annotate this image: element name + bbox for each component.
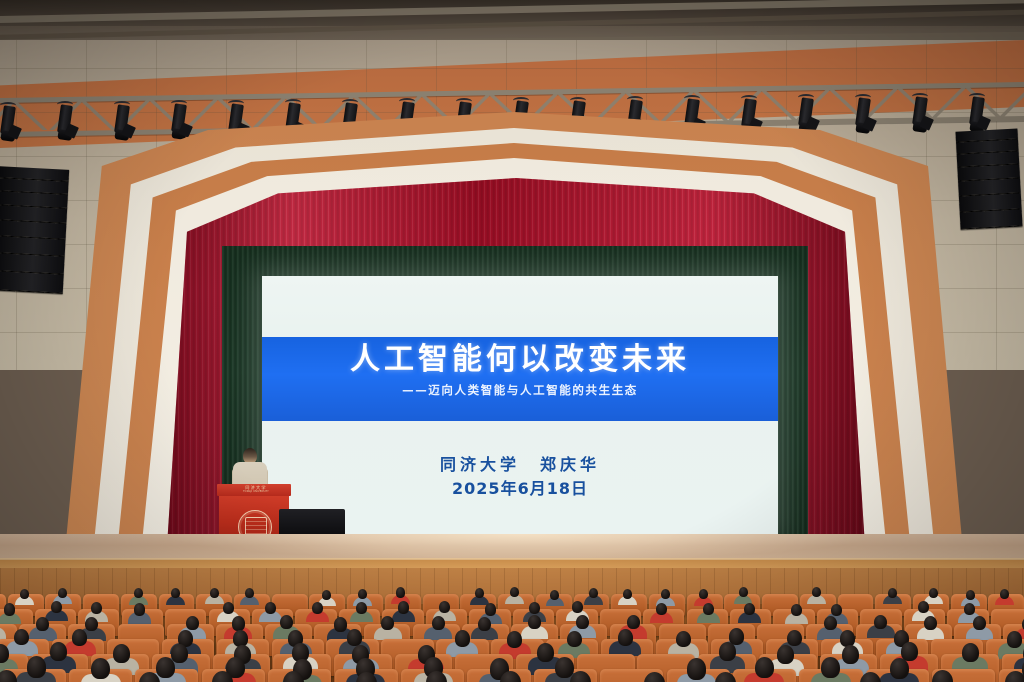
stage-light [171, 100, 187, 144]
audience-head [171, 644, 188, 663]
audience-seating [0, 568, 1024, 682]
audience-head [186, 616, 199, 631]
audience-head [589, 588, 598, 598]
audience-head [567, 631, 582, 648]
audience-head [572, 601, 583, 613]
audience-head [618, 629, 633, 646]
audience-head [58, 588, 67, 598]
audience-head [623, 589, 632, 599]
audience-head [842, 645, 859, 664]
audience-head [966, 590, 975, 600]
auditorium-photo: 人工智能何以改变未来 ——迈向人类智能与人工智能的共生生态 同济大学 郑庆华 2… [0, 0, 1024, 682]
slide-subtitle: ——迈向人类智能与人工智能的共生生态 [262, 382, 778, 398]
audience-head [703, 603, 714, 615]
audience-head [874, 615, 887, 630]
line-array-speaker-left [0, 166, 69, 293]
audience-head [661, 589, 670, 599]
audience-head [787, 630, 802, 647]
audience-head [964, 603, 975, 615]
audience-head [755, 657, 774, 678]
audience-head [812, 587, 821, 597]
audience-head [791, 604, 802, 616]
audience-head [36, 617, 49, 632]
audience-head [699, 589, 708, 599]
audience-head [507, 631, 522, 648]
audience-head [687, 658, 706, 679]
audience-head [232, 616, 245, 631]
audience-head [280, 615, 293, 630]
slide-affiliation: 同济大学 郑庆华 [262, 454, 778, 476]
audience-head [113, 644, 130, 663]
audience-head [1007, 631, 1022, 648]
audience-head [14, 629, 29, 646]
audience-head [4, 603, 15, 615]
audience-head [676, 631, 691, 648]
audience-head [171, 588, 180, 598]
audience-head [777, 645, 794, 664]
stage-light [912, 93, 928, 137]
audience-head [356, 602, 367, 614]
audience-head [455, 630, 470, 647]
audience-head [322, 590, 331, 600]
audience-head [739, 587, 748, 597]
audience-head [334, 617, 347, 632]
audience-head [1000, 589, 1009, 599]
audience-head [396, 587, 405, 597]
audience-head [27, 656, 46, 677]
slide-title: 人工智能何以改变未来 [262, 342, 778, 378]
speaker-cabinet [960, 209, 1023, 229]
projection-screen: 人工智能何以改变未来 ——迈向人类智能与人工智能的共生生态 同济大学 郑庆华 2… [262, 276, 778, 534]
audience-head [831, 604, 842, 616]
stage-light [114, 101, 130, 145]
slide-date: 2025年6月18日 [262, 478, 778, 500]
stage-floor-light [170, 534, 870, 560]
audience-head [485, 603, 496, 615]
audience-head [888, 588, 897, 598]
audience-head [824, 616, 837, 631]
audience-head [72, 629, 87, 646]
audience-head [719, 642, 736, 661]
audience-head [1005, 671, 1024, 682]
audience-head [134, 603, 145, 615]
audience-head [821, 657, 840, 678]
audience-head [91, 658, 110, 679]
audience-head [398, 601, 409, 613]
audience-head [627, 615, 640, 630]
line-array-speaker-right [955, 128, 1022, 229]
audience-head [223, 602, 234, 614]
audience-head [91, 602, 102, 614]
audience-head [265, 602, 276, 614]
speaker-cabinet [0, 271, 64, 294]
audience-head [312, 602, 323, 614]
audience-head [840, 630, 855, 647]
stage-light [0, 102, 16, 146]
audience-head [210, 588, 219, 598]
podium-org-name-en: TONGJI UNIVERSITY [219, 490, 293, 493]
stage-light [855, 94, 871, 138]
audience-head [962, 643, 979, 662]
audience-head [537, 643, 554, 662]
audience-head [478, 617, 491, 632]
audience-head [156, 657, 175, 678]
audience-head [656, 603, 667, 615]
wall-tile-line [0, 68, 1024, 69]
audience-head [890, 658, 909, 679]
audience-head [20, 589, 29, 599]
audience-head [347, 629, 362, 646]
audience-head [358, 589, 367, 599]
audience-head [51, 601, 62, 613]
audience-head [973, 616, 986, 631]
audience-head [528, 615, 541, 630]
audience-head [576, 615, 589, 630]
audience-head [529, 602, 540, 614]
audience-head [432, 616, 445, 631]
stage-light [57, 101, 73, 145]
podium-org-name: 同济大学TONGJI UNIVERSITY [219, 485, 293, 493]
audience-head [929, 588, 938, 598]
audience-head [50, 642, 67, 661]
audience-head [510, 587, 519, 597]
audience-head [924, 616, 937, 631]
